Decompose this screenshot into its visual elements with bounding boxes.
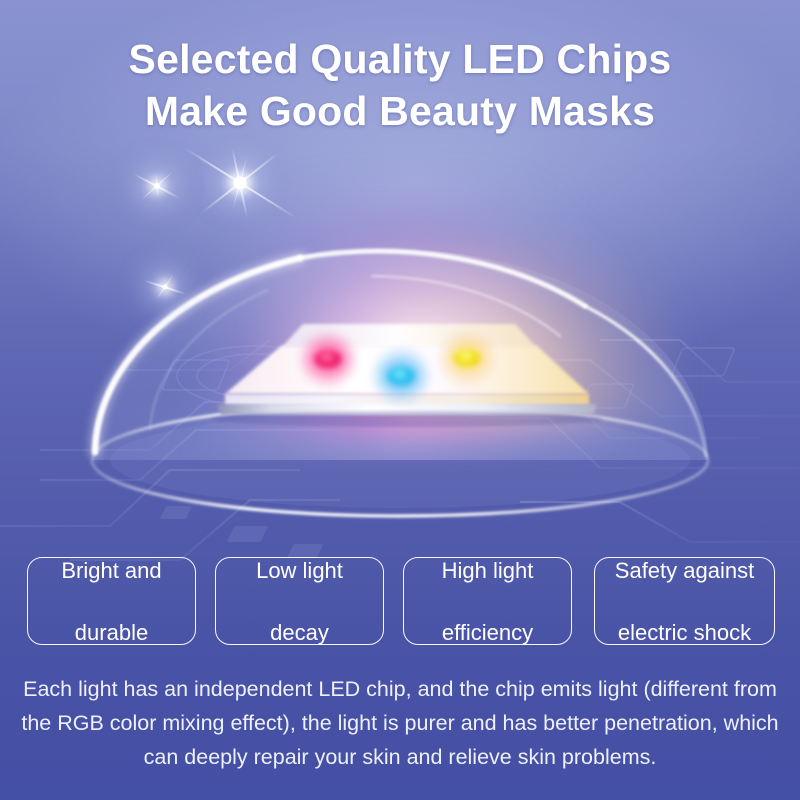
feature-box-high-light-efficiency[interactable]: High light efficiency: [403, 557, 572, 645]
product-banner: Selected Quality LED Chips Make Good Bea…: [0, 0, 800, 800]
led-red-bulb: [315, 350, 342, 368]
feature-1-line-1: Bright and: [61, 555, 161, 586]
feature-box-low-light-decay[interactable]: Low light decay: [215, 557, 384, 645]
feature-list: Bright and durable Low light decay High …: [0, 557, 800, 647]
headline-line-2: Make Good Beauty Masks: [0, 85, 800, 137]
feature-3-line-2: efficiency: [442, 617, 534, 648]
led-yellow: [436, 327, 498, 389]
led-red: [297, 328, 359, 390]
led-blue: [370, 345, 432, 407]
page-title: Selected Quality LED Chips Make Good Bea…: [0, 33, 800, 137]
feature-4-line-2: electric shock: [615, 617, 754, 648]
feature-2-line-1: Low light: [256, 555, 343, 586]
headline-line-1: Selected Quality LED Chips: [129, 36, 672, 82]
description-paragraph: Each light has an independent LED chip, …: [14, 672, 786, 774]
led-yellow-bulb: [454, 350, 480, 366]
feature-3-line-1: High light: [442, 555, 534, 586]
feature-1-line-2: durable: [61, 617, 161, 648]
led-blue-bulb: [388, 367, 415, 385]
feature-box-safety-against-electric-shock[interactable]: Safety against electric shock: [594, 557, 775, 645]
feature-2-line-2: decay: [256, 617, 343, 648]
feature-box-bright-and-durable[interactable]: Bright and durable: [27, 557, 196, 645]
led-chip-plate: [185, 318, 615, 428]
feature-4-line-1: Safety against: [615, 555, 754, 586]
